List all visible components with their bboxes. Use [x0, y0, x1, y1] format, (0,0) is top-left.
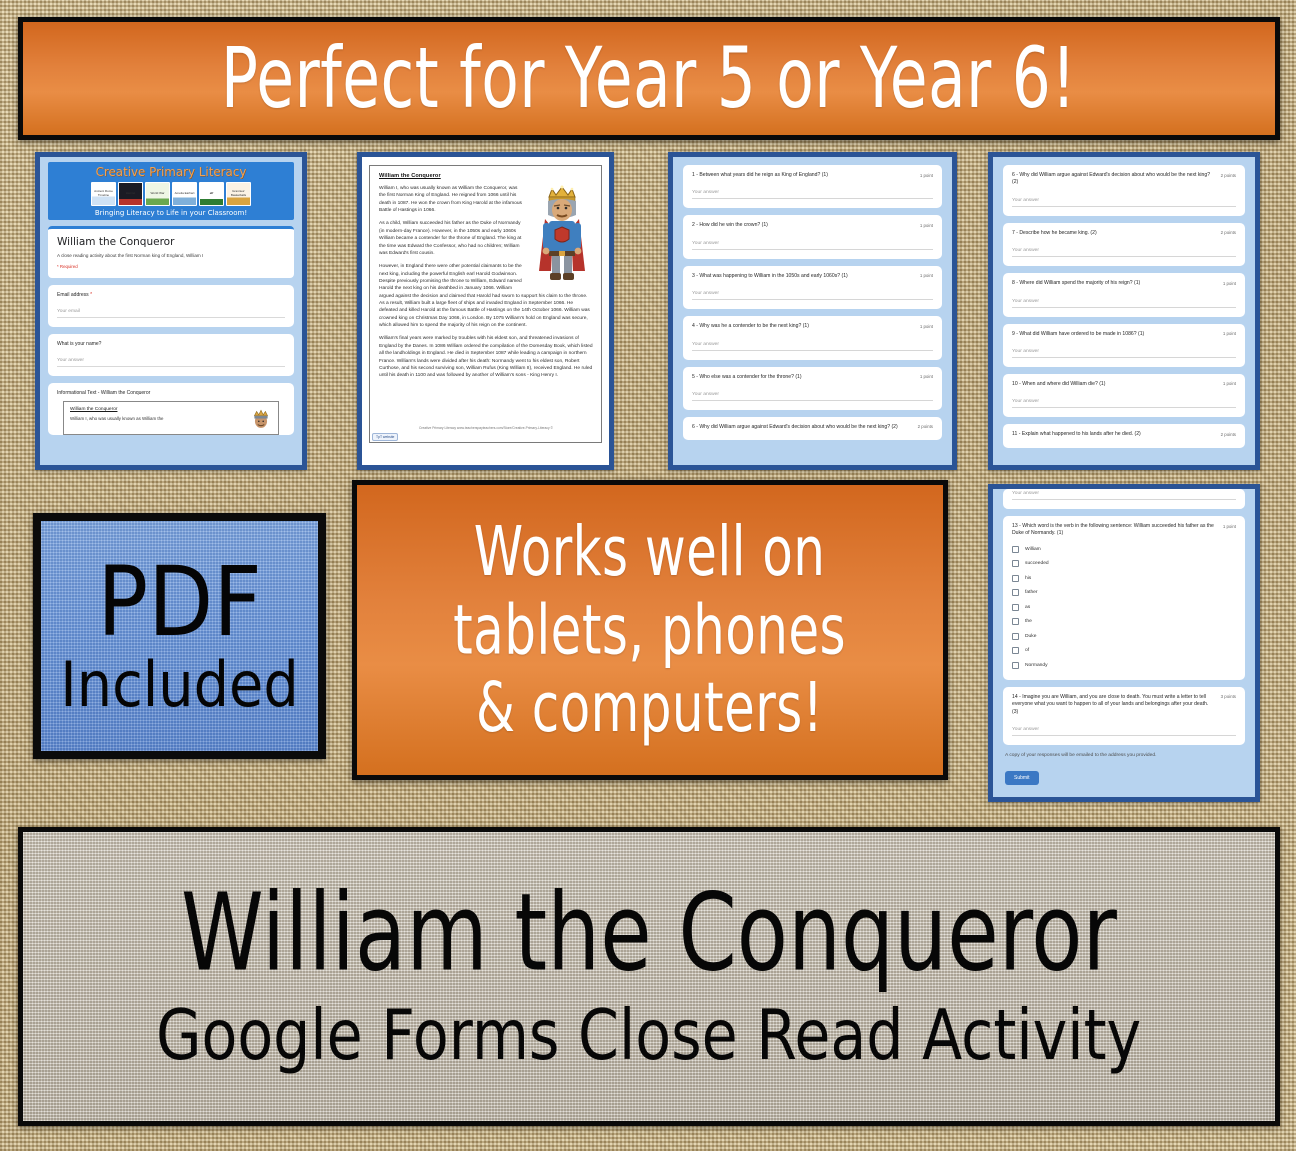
tpt-badge[interactable]: TpT website	[372, 433, 398, 441]
question-text: 3 - What was happening to William in the…	[692, 273, 914, 280]
checkbox-label: Normandy	[1025, 663, 1048, 668]
question-points: 1 point	[1223, 381, 1236, 387]
document-heading: William the Conqueror	[379, 173, 593, 179]
required-asterisk: *	[90, 292, 92, 298]
checkbox-label: succeeded	[1025, 561, 1049, 566]
question-points: 1 point	[1223, 331, 1236, 337]
questions-list-2: 6 - Why did William argue against Edward…	[1003, 165, 1245, 448]
embed-heading: William the Conqueror	[70, 407, 246, 412]
email-input[interactable]: Your email	[57, 309, 285, 318]
preview-thumbnail-questions-3[interactable]: Your answer 13 - Which word is the verb …	[988, 484, 1260, 802]
checkbox-label: of	[1025, 648, 1029, 653]
product-thumb-3: World War	[145, 182, 170, 206]
checkbox-option[interactable]: father	[1012, 589, 1236, 596]
pdf-included-label: Included	[60, 654, 299, 716]
email-question-card: Email address * Your email	[48, 285, 294, 327]
question-card: 5 - Who else was a contender for the thr…	[683, 367, 942, 410]
answer-input[interactable]: Your answer	[692, 241, 933, 250]
question-text: 9 - What did William have ordered to be …	[1012, 331, 1217, 338]
checkbox-option[interactable]: the	[1012, 618, 1236, 625]
checkbox-option[interactable]: succeeded	[1012, 560, 1236, 567]
answer-input[interactable]: Your answer	[1012, 248, 1236, 257]
devices-line-3: & computers!	[454, 669, 847, 747]
checkbox-icon[interactable]	[1012, 575, 1019, 582]
question-points: 2 points	[1221, 230, 1236, 236]
checkbox-label: William	[1025, 547, 1041, 552]
product-thumb-6: Grannies' Basketballs	[226, 182, 251, 206]
document-frame: William the Conqueror	[369, 165, 602, 443]
answer-input[interactable]: Your answer	[692, 342, 933, 351]
checkbox-icon[interactable]	[1012, 647, 1019, 654]
form-title: William the Conqueror	[57, 237, 285, 249]
answer-input[interactable]: Your answer	[1012, 349, 1236, 358]
name-input[interactable]: Your answer	[57, 358, 285, 367]
question-text: 7 - Describe how he became king. (2)	[1012, 230, 1215, 237]
question-points: 2 points	[1221, 431, 1236, 437]
product-thumb-1: Ancient Rome Timeline	[91, 182, 116, 206]
form-title-card: William the Conqueror A close reading ac…	[48, 226, 294, 278]
question-points: 1 point	[1223, 523, 1236, 529]
answer-input[interactable]: Your answer	[1012, 299, 1236, 308]
document-footer-credit: Creative Primary Literacy www.teacherspa…	[379, 426, 593, 430]
checkbox-question-card: 13 - Which word is the verb in the follo…	[1003, 516, 1245, 680]
promo-banner-year-level-text: Perfect for Year 5 or Year 6!	[221, 36, 1076, 122]
product-subtitle: Google Forms Close Read Activity	[156, 1000, 1141, 1069]
checkbox-option[interactable]: William	[1012, 546, 1236, 553]
question-text: 6 - Why did William argue against Edward…	[692, 424, 912, 431]
king-icon-small	[250, 407, 272, 429]
checkbox-icon[interactable]	[1012, 546, 1019, 553]
store-name-text: Creative Primary Literacy	[59, 166, 283, 179]
pdf-label: PDF	[97, 556, 262, 648]
question-points: 1 point	[920, 323, 933, 329]
preview-thumbnail-questions-2[interactable]: 6 - Why did William argue against Edward…	[988, 152, 1260, 470]
question-text: 2 - How did he win the crown? (1)	[692, 222, 914, 229]
question-text: 4 - Why was he a contender to be the nex…	[692, 323, 914, 330]
checkbox-label: Duke	[1025, 634, 1036, 639]
checkbox-option[interactable]: his	[1012, 575, 1236, 582]
question-points: 1 point	[920, 374, 933, 380]
store-header-banner: Creative Primary Literacy Ancient Rome T…	[48, 162, 294, 220]
devices-line-1: Works well on	[454, 513, 847, 591]
question-card: 14 - Imagine you are William, and you ar…	[1003, 687, 1245, 745]
preview-thumbnail-questions-1[interactable]: 1 - Between what years did he reign as K…	[668, 152, 957, 470]
question-card: 10 - When and where did William die? (1)…	[1003, 374, 1245, 417]
question-card: 7 - Describe how he became king. (2) 2 p…	[1003, 223, 1245, 266]
question-text: 13 - Which word is the verb in the follo…	[1012, 523, 1217, 538]
checkbox-icon[interactable]	[1012, 618, 1019, 625]
checkbox-icon[interactable]	[1012, 604, 1019, 611]
question-card: 6 - Why did William argue against Edward…	[683, 417, 942, 440]
question-card: 3 - What was happening to William in the…	[683, 266, 942, 309]
question-card: 4 - Why was he a contender to be the nex…	[683, 316, 942, 359]
document-paragraph-4: William's final years were marked by tro…	[379, 335, 593, 379]
informational-text-label: Informational Text - William the Conquer…	[57, 390, 285, 396]
king-illustration	[531, 185, 593, 283]
product-thumb-4: Amelia Earhart	[172, 182, 197, 206]
checkbox-option[interactable]: as	[1012, 604, 1236, 611]
question-points: 1 point	[1223, 280, 1236, 286]
name-field-label: What is your name?	[57, 341, 285, 347]
question-points: 2 points	[918, 424, 933, 430]
checkbox-label: father	[1025, 590, 1038, 595]
question-points: 3 points	[1221, 694, 1236, 700]
question-points: 2 points	[1221, 172, 1236, 178]
answer-input[interactable]: Your answer	[1012, 727, 1236, 736]
answer-input[interactable]: Your answer	[692, 291, 933, 300]
embed-paragraph: William I, who was usually known as Will…	[70, 416, 246, 423]
checkbox-option[interactable]: of	[1012, 647, 1236, 654]
question-card: 9 - What did William have ordered to be …	[1003, 324, 1245, 367]
answer-input[interactable]: Your answer	[1012, 399, 1236, 408]
question-points: 1 point	[920, 222, 933, 228]
question-card: 11 - Explain what happened to his lands …	[1003, 424, 1245, 447]
question-points: 1 point	[920, 273, 933, 279]
checkbox-icon[interactable]	[1012, 633, 1019, 640]
questions-list-3: Your answer 13 - Which word is the verb …	[1003, 489, 1245, 793]
promo-banner-year-level: Perfect for Year 5 or Year 6!	[18, 17, 1280, 140]
promo-banner-devices: Works well on tablets, phones & computer…	[352, 480, 948, 780]
question-points: 1 point	[920, 172, 933, 178]
promo-banner-devices-text: Works well on tablets, phones & computer…	[454, 513, 847, 747]
answer-input[interactable]: Your answer	[692, 392, 933, 401]
form-description: A close reading activity about the first…	[57, 253, 285, 259]
document-page: William the Conqueror	[366, 161, 605, 461]
answer-input[interactable]: Your answer	[1012, 198, 1236, 207]
product-thumb-2: Hamlet	[118, 182, 143, 206]
email-copy-note: A copy of your responses will be emailed…	[1005, 753, 1243, 758]
product-thumb-5: elf	[199, 182, 224, 206]
submit-button[interactable]: Submit	[1005, 771, 1039, 785]
required-note: * Required	[57, 264, 285, 269]
question-card: 8 - Where did William spend the majority…	[1003, 273, 1245, 316]
question-text: 14 - Imagine you are William, and you ar…	[1012, 694, 1215, 716]
devices-line-2: tablets, phones	[454, 591, 847, 669]
checkbox-icon[interactable]	[1012, 560, 1019, 567]
product-title: William the Conqueror	[181, 880, 1117, 987]
email-field-label: Email address *	[57, 292, 285, 298]
informational-text-embed: William the Conqueror William I, who was…	[63, 401, 279, 435]
answer-input[interactable]: Your answer	[1012, 491, 1236, 500]
question-card: 2 - How did he win the crown? (1) 1 poin…	[683, 215, 942, 258]
questions-list-1: 1 - Between what years did he reign as K…	[683, 165, 942, 440]
question-text: 1 - Between what years did he reign as K…	[692, 172, 914, 179]
checkbox-label: the	[1025, 619, 1032, 624]
checkbox-label: his	[1025, 576, 1031, 581]
checkbox-label: as	[1025, 605, 1030, 610]
question-card: 1 - Between what years did he reign as K…	[683, 165, 942, 208]
checkbox-option[interactable]: Normandy	[1012, 662, 1236, 669]
checkbox-option[interactable]: Duke	[1012, 633, 1236, 640]
promo-banner-pdf: PDF Included	[33, 513, 326, 759]
answer-input[interactable]: Your answer	[692, 190, 933, 199]
question-text: 5 - Who else was a contender for the thr…	[692, 374, 914, 381]
question-text: 8 - Where did William spend the majority…	[1012, 280, 1217, 287]
question-text: 10 - When and where did William die? (1)	[1012, 381, 1217, 388]
store-product-thumbnail-strip: Ancient Rome Timeline Hamlet World War A…	[53, 182, 289, 206]
informational-text-card: Informational Text - William the Conquer…	[48, 383, 294, 435]
preview-thumbnail-cover[interactable]: Creative Primary Literacy Ancient Rome T…	[35, 152, 307, 470]
product-title-plaque: William the Conqueror Google Forms Close…	[18, 827, 1280, 1126]
checkbox-icon[interactable]	[1012, 589, 1019, 596]
name-question-card: What is your name? Your answer	[48, 334, 294, 376]
checkbox-options-list: William succeeded his father as	[1012, 546, 1236, 669]
question-text: 11 - Explain what happened to his lands …	[1012, 431, 1215, 438]
question-card: 6 - Why did William argue against Edward…	[1003, 165, 1245, 216]
question-card-partial: Your answer	[1003, 489, 1245, 509]
checkbox-icon[interactable]	[1012, 662, 1019, 669]
store-tagline-text: Bringing Literacy to Life in your Classr…	[59, 209, 283, 216]
question-text: 6 - Why did William argue against Edward…	[1012, 172, 1215, 187]
preview-thumbnail-informational-text[interactable]: William the Conqueror	[357, 152, 614, 470]
